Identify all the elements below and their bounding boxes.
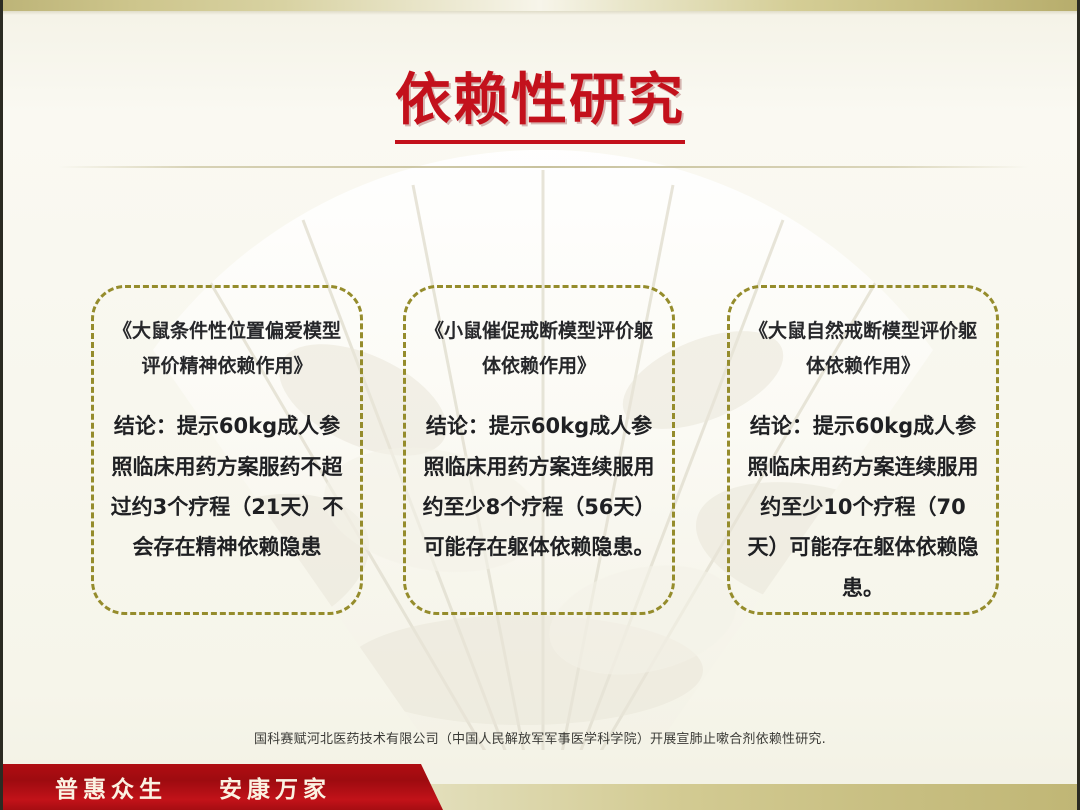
study-card-natural-withdrawal[interactable]: 《大鼠自然戒断模型评价躯体依赖作用》 结论：提示60kg成人参照临床用药方案连续… (727, 285, 999, 615)
footer-bar: 普惠众生 安康万家 (3, 758, 1080, 810)
footer-slogan: 普惠众生 安康万家 (55, 770, 331, 804)
title-zone: 依赖性研究 (3, 70, 1077, 144)
gold-top-bar (3, 0, 1077, 11)
study-card-precipitated-withdrawal[interactable]: 《小鼠催促戒断模型评价躯体依赖作用》 结论：提示60kg成人参照临床用药方案连续… (403, 285, 675, 615)
card-title: 《小鼠催促戒断模型评价躯体依赖作用》 (422, 314, 656, 384)
card-title: 《大鼠条件性位置偏爱模型评价精神依赖作用》 (110, 314, 344, 384)
title-divider (58, 166, 1028, 168)
presentation-slide: 依赖性研究 《大鼠条件性位置偏爱模型评价精神依赖作用》 结论：提示60kg成人参… (0, 0, 1080, 810)
gold-top-bar-shadow (3, 11, 1077, 15)
page-title: 依赖性研究 (395, 70, 685, 144)
card-conclusion: 结论：提示60kg成人参照临床用药方案连续服用约至少8个疗程（56天）可能存在躯… (422, 406, 656, 567)
source-caption: 国科赛赋河北医药技术有限公司（中国人民解放军军事医学科学院）开展宣肺止嗽合剂依赖… (3, 728, 1077, 747)
cards-row: 《大鼠条件性位置偏爱模型评价精神依赖作用》 结论：提示60kg成人参照临床用药方… (3, 285, 1080, 615)
study-card-psychological-dependence[interactable]: 《大鼠条件性位置偏爱模型评价精神依赖作用》 结论：提示60kg成人参照临床用药方… (91, 285, 363, 615)
card-title: 《大鼠自然戒断模型评价躯体依赖作用》 (746, 314, 980, 384)
card-conclusion: 结论：提示60kg成人参照临床用药方案服药不超过约3个疗程（21天）不会存在精神… (110, 406, 344, 567)
card-conclusion: 结论：提示60kg成人参照临床用药方案连续服用约至少10个疗程（70天）可能存在… (746, 406, 980, 608)
